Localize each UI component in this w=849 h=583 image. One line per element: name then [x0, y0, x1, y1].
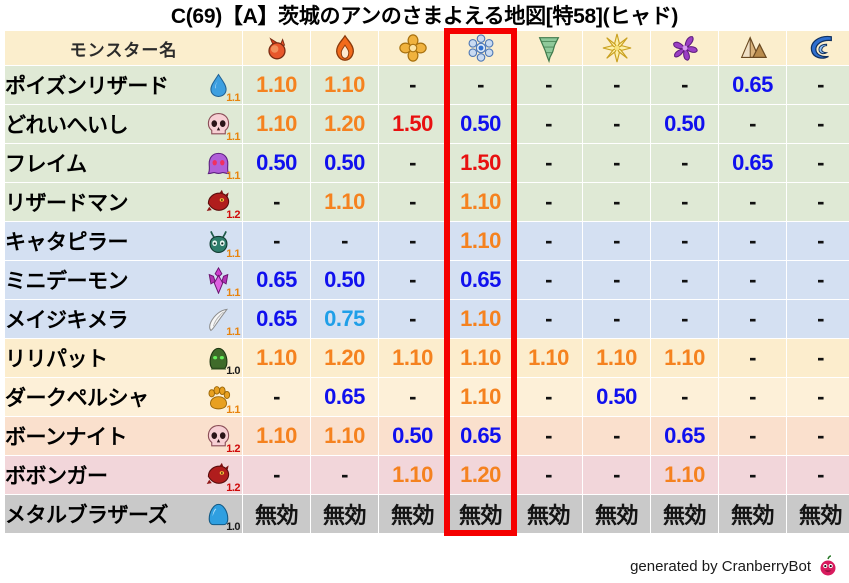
resistance-cell: - [787, 300, 849, 338]
resistance-cell: - [243, 183, 310, 221]
resistance-cell: - [719, 183, 786, 221]
resistance-cell: - [515, 183, 582, 221]
monster-weakness-icon-box: 1.1 [196, 379, 240, 415]
monster-name-label: ポイズンリザード [5, 70, 168, 100]
resistance-cell: - [787, 222, 849, 260]
monster-weakness-icon-box: 1.1 [196, 67, 240, 103]
resistance-cell: 無効 [243, 495, 310, 533]
table-row: フレイム1.10.500.50-1.50---0.65- [5, 144, 849, 182]
table-row: ボボンガー1.2--1.101.20--1.10-- [5, 456, 849, 494]
resistance-cell: - [719, 300, 786, 338]
monster-weakness-icon-box: 1.2 [196, 418, 240, 454]
resistance-cell: 1.10 [447, 300, 514, 338]
element-column-header-purple-flower-icon[interactable] [651, 31, 718, 65]
table-row: ボーンナイト1.21.101.100.500.65--0.65-- [5, 417, 849, 455]
resistance-cell: 1.10 [447, 339, 514, 377]
monster-weakness-multiplier: 1.1 [226, 132, 240, 143]
resistance-cell: 0.65 [243, 261, 310, 299]
table-row: ダークペルシャ1.1-0.65-1.10-0.50--- [5, 378, 849, 416]
orange-cross-icon [379, 33, 446, 63]
resistance-cell: - [787, 66, 849, 104]
resistance-cell: 0.65 [311, 378, 378, 416]
monster-weakness-multiplier: 1.1 [226, 327, 240, 338]
resistance-cell: 無効 [379, 495, 446, 533]
resistance-cell: 1.20 [311, 105, 378, 143]
resistance-cell: 無効 [311, 495, 378, 533]
table-row: リザードマン1.2-1.10-1.10----- [5, 183, 849, 221]
resistance-cell: - [583, 261, 650, 299]
monster-name-label: メタルブラザーズ [5, 499, 168, 529]
resistance-cell: 1.10 [311, 66, 378, 104]
green-tornado-icon [515, 33, 582, 63]
yellow-star-icon [583, 33, 650, 63]
monster-weakness-multiplier: 1.1 [226, 171, 240, 182]
monster-name-cell[interactable]: メタルブラザーズ1.0 [5, 495, 242, 533]
resistance-cell: - [379, 378, 446, 416]
monster-name-cell[interactable]: リリパット1.0 [5, 339, 242, 377]
resistance-cell: - [719, 105, 786, 143]
resistance-cell: - [515, 66, 582, 104]
resistance-cell: - [583, 144, 650, 182]
resistance-cell: - [651, 144, 718, 182]
monster-weakness-multiplier: 1.1 [226, 93, 240, 104]
resistance-cell: - [787, 105, 849, 143]
resistance-cell: 1.10 [243, 417, 310, 455]
monster-name-label: どれいへいし [5, 109, 128, 139]
monster-weakness-icon-box: 1.1 [196, 106, 240, 142]
monster-name-label: リザードマン [5, 187, 128, 217]
resistance-cell: 1.10 [243, 66, 310, 104]
resistance-cell: 0.50 [447, 105, 514, 143]
resistance-cell: 1.10 [583, 339, 650, 377]
table-row: リリパット1.01.101.201.101.101.101.101.10-- [5, 339, 849, 377]
monster-weakness-icon-box: 1.1 [196, 145, 240, 181]
resistance-cell: - [651, 300, 718, 338]
resistance-cell: - [243, 456, 310, 494]
resistance-cell: 0.50 [243, 144, 310, 182]
monster-name-label: リリパット [5, 343, 108, 373]
monster-name-label: ボボンガー [5, 460, 108, 490]
resistance-cell: 0.50 [379, 417, 446, 455]
resistance-cell: 1.50 [447, 144, 514, 182]
monster-weakness-multiplier: 1.1 [226, 249, 240, 260]
resistance-cell: 1.10 [243, 339, 310, 377]
monster-weakness-multiplier: 1.2 [226, 210, 240, 221]
resistance-cell: - [379, 144, 446, 182]
element-column-header-brown-mountain-icon[interactable] [719, 31, 786, 65]
resistance-cell: - [787, 378, 849, 416]
resistance-cell: - [515, 261, 582, 299]
resistance-cell: - [719, 339, 786, 377]
resistance-cell: - [583, 417, 650, 455]
resistance-cell: - [651, 222, 718, 260]
monster-name-cell[interactable]: ミニデーモン1.1 [5, 261, 242, 299]
monster-weakness-icon-box: 1.2 [196, 184, 240, 220]
resistance-cell: 0.65 [447, 417, 514, 455]
resistance-cell: 無効 [719, 495, 786, 533]
table-row: ミニデーモン1.10.650.50-0.65----- [5, 261, 849, 299]
monster-weakness-icon-box: 1.1 [196, 223, 240, 259]
table-row: キャタピラー1.1---1.10----- [5, 222, 849, 260]
monster-name-label: ダークペルシャ [5, 382, 149, 412]
resistance-cell: - [651, 183, 718, 221]
resistance-cell: 0.75 [311, 300, 378, 338]
monster-name-cell[interactable]: メイジキメラ1.1 [5, 300, 242, 338]
resistance-cell: 無効 [583, 495, 650, 533]
monster-name-cell[interactable]: フレイム1.1 [5, 144, 242, 182]
resistance-cell: - [651, 378, 718, 416]
resistance-cell: 1.20 [311, 339, 378, 377]
resistance-cell: - [787, 456, 849, 494]
resistance-cell: - [515, 378, 582, 416]
resistance-cell: 無効 [515, 495, 582, 533]
element-column-header-green-tornado-icon[interactable] [515, 31, 582, 65]
resistance-cell: 1.10 [515, 339, 582, 377]
monster-weakness-multiplier: 1.0 [226, 366, 240, 377]
resistance-cell: - [243, 222, 310, 260]
monster-weakness-icon-box: 1.0 [196, 496, 240, 532]
table-row: どれいへいし1.11.101.201.500.50--0.50-- [5, 105, 849, 143]
resistance-cell: - [583, 300, 650, 338]
resistance-cell: - [515, 300, 582, 338]
resistance-cell: 無効 [651, 495, 718, 533]
resistance-cell: 1.10 [311, 183, 378, 221]
monster-weakness-icon-box: 1.0 [196, 340, 240, 376]
resistance-cell: 0.50 [583, 378, 650, 416]
purple-flower-icon [651, 33, 718, 63]
cranberry-bot-icon [817, 555, 839, 577]
resistance-cell: - [651, 261, 718, 299]
resistance-cell: 0.65 [719, 144, 786, 182]
resistance-cell: 0.65 [719, 66, 786, 104]
element-column-header-snowflake-icon[interactable] [447, 31, 514, 65]
monster-name-label: キャタピラー [5, 226, 128, 256]
element-column-header-meteor-fire-icon[interactable] [243, 31, 310, 65]
table-row: メイジキメラ1.10.650.75-1.10----- [5, 300, 849, 338]
footer: generated by CranberryBot [630, 555, 839, 577]
monster-name-cell[interactable]: リザードマン1.2 [5, 183, 242, 221]
page-title: C(69)【A】茨城のアンのさまよえる地図[特58](ヒャド) [0, 0, 849, 30]
meteor-fire-icon [243, 33, 310, 63]
flame-icon [311, 33, 378, 63]
resistance-cell: 1.10 [447, 222, 514, 260]
element-column-header-yellow-star-icon[interactable] [583, 31, 650, 65]
monster-weakness-multiplier: 1.1 [226, 288, 240, 299]
resistance-cell: - [515, 105, 582, 143]
resistance-cell: - [515, 456, 582, 494]
resistance-cell: - [583, 456, 650, 494]
resistance-cell: 1.10 [379, 339, 446, 377]
element-column-header-flame-icon[interactable] [311, 31, 378, 65]
blue-wave-icon [787, 33, 849, 63]
resistance-cell: 0.65 [651, 417, 718, 455]
element-column-header-orange-cross-icon[interactable] [379, 31, 446, 65]
monster-name-cell[interactable]: どれいへいし1.1 [5, 105, 242, 143]
resistance-cell: - [515, 417, 582, 455]
brown-mountain-icon [719, 33, 786, 63]
resistance-cell: 1.10 [651, 456, 718, 494]
resistance-cell: 0.50 [651, 105, 718, 143]
resistance-cell: - [311, 222, 378, 260]
monster-name-header: モンスター名 [5, 31, 242, 65]
resistance-cell: - [379, 222, 446, 260]
monster-weakness-icon-box: 1.2 [196, 457, 240, 493]
resistance-cell: - [787, 417, 849, 455]
resistance-cell: - [447, 66, 514, 104]
monster-weakness-multiplier: 1.2 [226, 444, 240, 455]
resistance-cell: 0.50 [311, 144, 378, 182]
monster-name-label: メイジキメラ [5, 304, 128, 334]
resistance-cell: - [583, 66, 650, 104]
resistance-cell: 1.10 [447, 183, 514, 221]
resistance-cell: 0.65 [243, 300, 310, 338]
monster-weakness-multiplier: 1.2 [226, 483, 240, 494]
footer-credit-text: generated by CranberryBot [630, 558, 811, 575]
monster-weakness-icon-box: 1.1 [196, 262, 240, 298]
resistance-cell: - [515, 222, 582, 260]
resistance-cell: - [311, 456, 378, 494]
resistance-cell: 1.10 [651, 339, 718, 377]
monster-weakness-multiplier: 1.0 [226, 522, 240, 533]
resistance-cell: 1.10 [243, 105, 310, 143]
resistance-cell: 1.10 [379, 456, 446, 494]
element-column-header-blue-wave-icon[interactable] [787, 31, 849, 65]
resistance-cell: - [787, 261, 849, 299]
table-row: ポイズンリザード1.11.101.10-----0.65- [5, 66, 849, 104]
resistance-cell: - [379, 66, 446, 104]
resistance-cell: 1.10 [447, 378, 514, 416]
resistance-cell: - [719, 378, 786, 416]
monster-name-cell[interactable]: キャタピラー1.1 [5, 222, 242, 260]
table-row: メタルブラザーズ1.0無効無効無効無効無効無効無効無効無効 [5, 495, 849, 533]
resistance-cell: - [719, 222, 786, 260]
resistance-cell: - [719, 456, 786, 494]
resistance-cell: 1.50 [379, 105, 446, 143]
resistance-cell: - [787, 339, 849, 377]
resistance-cell: - [583, 222, 650, 260]
resistance-cell: - [787, 183, 849, 221]
resistance-cell: - [379, 300, 446, 338]
snowflake-icon [447, 33, 514, 63]
resistance-cell: - [719, 417, 786, 455]
resistance-cell: - [379, 183, 446, 221]
resistance-cell: - [787, 144, 849, 182]
resistance-cell: 1.10 [311, 417, 378, 455]
resistance-cell: - [243, 378, 310, 416]
monster-name-cell[interactable]: ボーンナイト1.2 [5, 417, 242, 455]
monster-name-label: ボーンナイト [5, 421, 127, 451]
monster-name-label: ミニデーモン [5, 265, 128, 295]
resistance-cell: - [651, 66, 718, 104]
resistance-cell: 0.50 [311, 261, 378, 299]
resistance-cell: - [515, 144, 582, 182]
resistance-cell: - [379, 261, 446, 299]
monster-name-label: フレイム [5, 148, 87, 178]
monster-name-cell[interactable]: ボボンガー1.2 [5, 456, 242, 494]
monster-name-cell[interactable]: ポイズンリザード1.1 [5, 66, 242, 104]
resistance-cell: - [583, 105, 650, 143]
monster-weakness-multiplier: 1.1 [226, 405, 240, 416]
resistance-cell: - [719, 261, 786, 299]
table-header-row: モンスター名 [5, 31, 849, 65]
element-resistance-table-wrap: モンスター名 ポイズンリザード1.11.101.10-----0.65-どれいへ… [0, 30, 849, 534]
monster-name-cell[interactable]: ダークペルシャ1.1 [5, 378, 242, 416]
table-body: ポイズンリザード1.11.101.10-----0.65-どれいへいし1.11.… [5, 66, 849, 533]
resistance-cell: 無効 [787, 495, 849, 533]
resistance-cell: 0.65 [447, 261, 514, 299]
resistance-cell: - [583, 183, 650, 221]
monster-weakness-icon-box: 1.1 [196, 301, 240, 337]
element-resistance-table: モンスター名 ポイズンリザード1.11.101.10-----0.65-どれいへ… [4, 30, 849, 534]
resistance-cell: 無効 [447, 495, 514, 533]
resistance-cell: 1.20 [447, 456, 514, 494]
